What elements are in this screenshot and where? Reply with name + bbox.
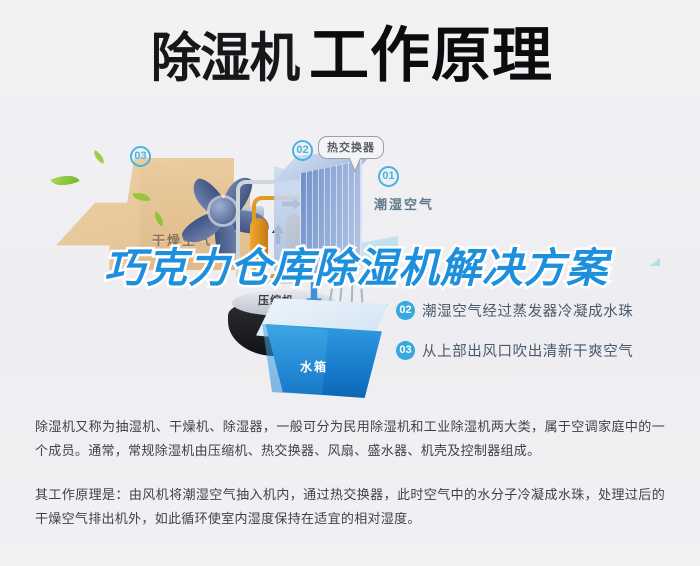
legend-badge-02: 02 <box>396 301 415 320</box>
diagram-badge-02: 02 <box>292 140 313 161</box>
fan-hub <box>210 198 236 224</box>
legend-text-03: 从上部出风口吹出清新干爽空气 <box>422 340 633 361</box>
leaf-icon <box>91 150 107 164</box>
legend-badge-03: 03 <box>396 341 415 360</box>
legend-text-02: 潮湿空气经过蒸发器冷凝成水珠 <box>422 300 633 321</box>
page-title-part-a: 除湿机 <box>151 32 299 85</box>
body-copy: 除湿机又称为抽湿机、干燥机、除湿器，一般可分为民用除湿机和工业除湿机两大类，属于… <box>35 416 665 552</box>
page-root: 除湿机工作原理 干燥空气 <box>0 0 700 566</box>
watermark-overlay: 巧克力仓库除湿机解决方案 <box>104 243 624 293</box>
legend-item: 02 潮湿空气经过蒸发器冷凝成水珠 <box>396 300 686 321</box>
diagram-badge-01: 01 <box>378 166 399 187</box>
humid-air-label: 潮湿空气 <box>374 194 434 213</box>
diagram-legend: 02 潮湿空气经过蒸发器冷凝成水珠 03 从上部出风口吹出清新干爽空气 <box>396 300 686 380</box>
water-tank-label: 水箱 <box>300 358 328 375</box>
heat-exchanger-callout: 热交换器 <box>318 136 384 159</box>
paragraph-2: 其工作原理是：由风机将潮湿空气抽入机内，通过热交换器，此时空气中的水分子冷凝成水… <box>35 484 665 532</box>
page-title: 除湿机工作原理 <box>0 26 700 86</box>
page-title-part-b: 工作原理 <box>309 26 553 86</box>
legend-item: 03 从上部出风口吹出清新干爽空气 <box>396 340 686 361</box>
watermark-text: 巧克力仓库除湿机解决方案 <box>104 244 608 292</box>
diagram-badge-03: 03 <box>130 146 151 167</box>
leaf-icon <box>50 169 79 191</box>
paragraph-1: 除湿机又称为抽湿机、干燥机、除湿器，一般可分为民用除湿机和工业除湿机两大类，属于… <box>35 416 665 464</box>
